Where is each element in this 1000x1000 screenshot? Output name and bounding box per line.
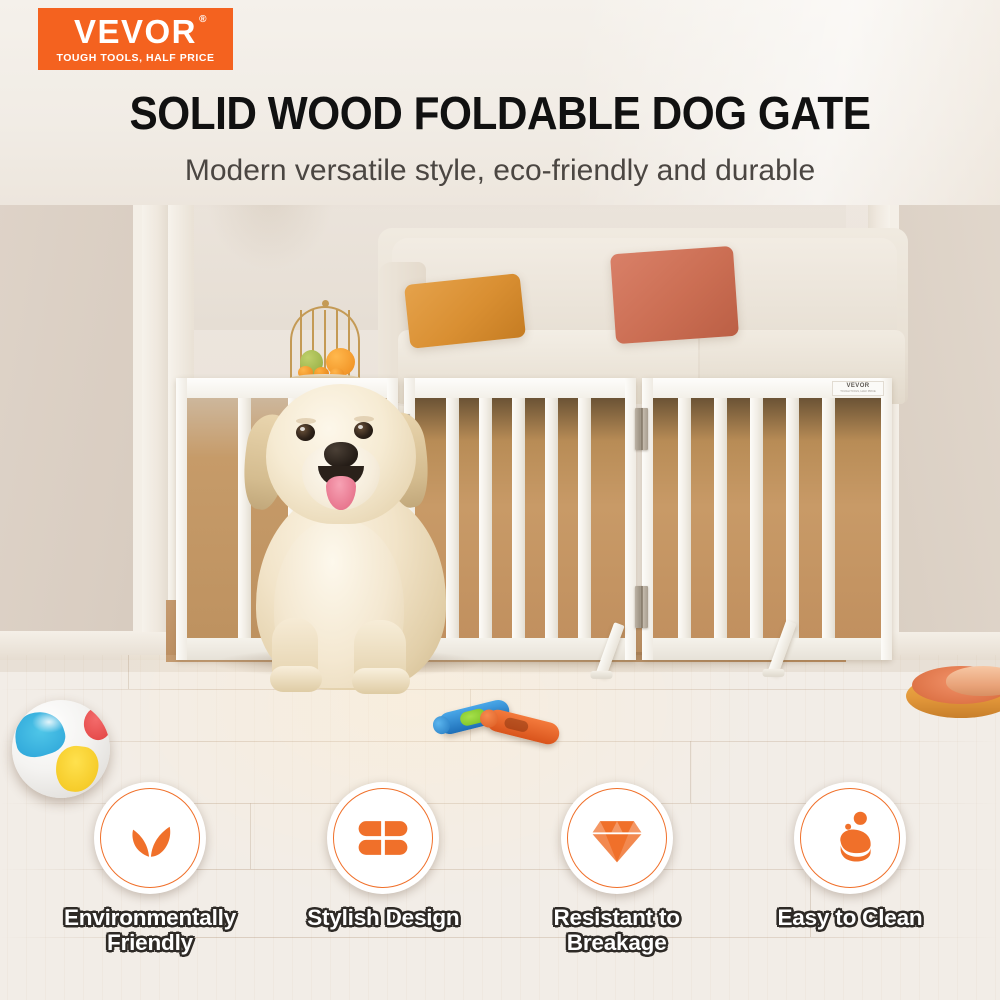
badge-label: Environmentally Friendly	[64, 905, 236, 955]
badge-label: Resistant to Breakage	[553, 905, 679, 955]
dog-chew-toys	[438, 700, 558, 762]
amber-pillow	[404, 273, 526, 349]
logo-tagline: TOUGH TOOLS, HALF PRICE	[56, 52, 214, 64]
vevor-logo: VEVOR® TOUGH TOOLS, HALF PRICE	[38, 8, 233, 70]
badge-circle	[327, 782, 439, 894]
badge-stylish-design: Stylish Design	[285, 782, 481, 1000]
badge-label-line1: Easy to Clean	[778, 905, 923, 930]
dog-eye-right	[354, 422, 373, 439]
golden-retriever-dog	[214, 370, 494, 690]
page-title: SOLID WOOD FOLDABLE DOG GATE	[40, 86, 960, 140]
badge-resistant-to-breakage: Resistant to Breakage	[519, 782, 715, 1000]
sponge-icon	[820, 808, 880, 868]
badge-circle	[94, 782, 206, 894]
logo-wordmark: VEVOR®	[74, 15, 197, 48]
gate-label-sub: TOUGH TOOLS, HALF PRICE	[840, 390, 875, 393]
badge-label-line2: Breakage	[553, 930, 679, 955]
badge-label: Easy to Clean	[778, 905, 923, 930]
badge-circle	[794, 782, 906, 894]
page-subtitle: Modern versatile style, eco-friendly and…	[0, 154, 1000, 188]
feature-badges: Environmentally Friendly Stylish Design	[0, 782, 1000, 1000]
pet-food-bowl	[906, 660, 1000, 722]
gate-panel-right: VEVOR TOUGH TOOLS, HALF PRICE	[642, 378, 892, 660]
dog-nose	[324, 442, 358, 468]
badge-environmentally-friendly: Environmentally Friendly	[52, 782, 248, 1000]
gate-hinge-lower-right	[635, 586, 648, 628]
gate-hinge-upper-right	[635, 408, 648, 450]
dog-eye-left	[296, 424, 315, 441]
gate-vevor-label: VEVOR TOUGH TOOLS, HALF PRICE	[832, 381, 884, 396]
badge-label-line2: Friendly	[64, 930, 236, 955]
badge-easy-to-clean: Easy to Clean	[752, 782, 948, 1000]
gate-label-word: VEVOR	[846, 383, 869, 389]
chew-toy-orange	[484, 707, 561, 746]
logo-word-text: VEVOR	[74, 13, 197, 50]
badge-circle	[561, 782, 673, 894]
clover-icon	[353, 808, 413, 868]
product-marketing-image: VEVOR TOUGH TOOLS, HALF PRICE	[0, 0, 1000, 1000]
terracotta-pillow	[610, 246, 739, 344]
registered-trademark-icon: ®	[199, 15, 208, 25]
badge-label-line1: Resistant to	[553, 905, 679, 930]
leaf-icon	[120, 808, 180, 868]
header-banner: VEVOR® TOUGH TOOLS, HALF PRICE SOLID WOO…	[0, 0, 1000, 205]
diamond-icon	[587, 808, 647, 868]
badge-label: Stylish Design	[307, 905, 459, 930]
badge-label-line1: Environmentally	[64, 905, 236, 930]
badge-label-line1: Stylish Design	[307, 905, 459, 930]
